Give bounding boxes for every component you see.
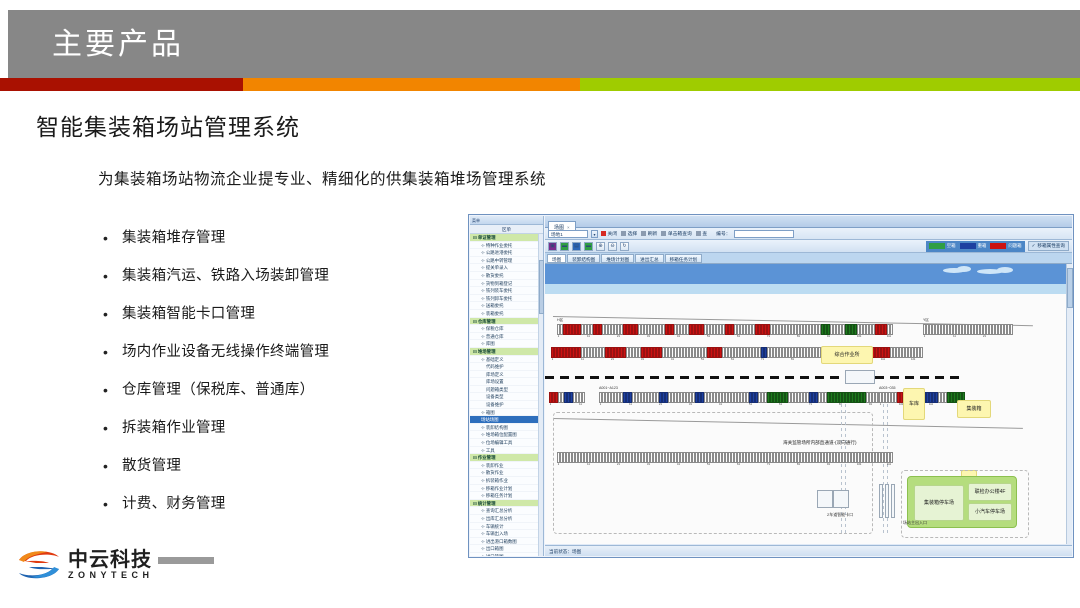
logo-name-en: ZONYTECH: [68, 570, 154, 581]
feature-list-item-label: 仓库管理（保税库、普通库）: [122, 380, 314, 400]
label-smart-gate: 2车道智能卡口: [827, 512, 853, 518]
zoom-out-icon[interactable]: ⊖: [608, 242, 617, 251]
bullet-marker: •: [96, 342, 122, 362]
yard-tick: [890, 463, 893, 467]
tree-node[interactable]: ⊹ 送箱委托: [470, 302, 538, 310]
feature-list-item: •集装箱智能卡口管理: [96, 304, 466, 342]
tree-node[interactable]: ⊹ 移箱作业计划: [470, 485, 538, 493]
tree-node[interactable]: 库场定义: [470, 371, 538, 379]
app-status-bar: 当前状态：场图: [545, 545, 1072, 556]
plot-outline-main: [553, 412, 873, 534]
slide: 主要产品 智能集装箱场站管理系统 为集装箱场站物流企业提专业、精细化的供集装箱堆…: [0, 0, 1080, 608]
yard-tick: [1010, 335, 1013, 339]
yard-row-y-ticks: 11121: [923, 335, 1013, 339]
toolbar-item-label: 查: [702, 230, 707, 237]
zoom-glyph[interactable]: ▣: [548, 242, 557, 251]
logo-divider-bar: [158, 557, 214, 564]
tree-node[interactable]: ⊹ 提关单录入: [470, 264, 538, 272]
toolbar-item[interactable]: 查: [696, 230, 707, 237]
feature-list-item-label: 散货管理: [122, 456, 181, 476]
feature-list-item: •集装箱堆存管理: [96, 228, 466, 266]
toolbar-item[interactable]: 单击箱查询: [661, 230, 692, 237]
building-zonghe[interactable]: 综合作业所: [821, 346, 873, 364]
row-label-h: H区: [557, 318, 563, 323]
feature-list-item-label: 集装箱汽运、铁路入场装卸管理: [122, 266, 329, 286]
app-toolbar-tools[interactable]: ▣▬▤▬⊕⊖↻ 空箱重箱问题箱 ✓ 移箱属性查询: [545, 240, 1072, 253]
row-label-a003: A003~035: [879, 386, 896, 390]
logo-swoosh-icon: [16, 548, 62, 582]
refresh-icon[interactable]: ↻: [620, 242, 629, 251]
tree-node[interactable]: ⊹ 箱图: [470, 409, 538, 417]
chevron-down-icon[interactable]: ▾: [591, 230, 598, 238]
gate-lane: [817, 490, 833, 508]
bullet-marker: •: [96, 266, 122, 286]
entrance-lane: [891, 484, 895, 518]
gate-lane: [833, 490, 849, 508]
yard-slot[interactable]: [1010, 324, 1013, 335]
tree-caption: 区单: [470, 225, 543, 234]
tree-node[interactable]: ⊹ 工具: [470, 447, 538, 455]
legend-entry: 问题箱: [990, 243, 1021, 249]
app-main-area: 场图× 场地1 ▾ 关闭选择刷新单击箱查询查 编号： ▣▬▤▬⊕⊖↻ 空箱重箱问…: [545, 216, 1072, 556]
tree-node[interactable]: ⊹ 拆装箱作业: [470, 477, 538, 485]
cloud-icon: [957, 266, 971, 272]
tree-scrollbar[interactable]: [538, 234, 543, 556]
feature-list-item-label: 拆装箱作业管理: [122, 418, 226, 438]
cloud-icon: [997, 267, 1013, 273]
zoom-in-icon[interactable]: ⊕: [596, 242, 605, 251]
yard-row-h-ticks: 1112131415161718191101111: [557, 335, 893, 339]
toolbar-item-label: 关闭: [608, 230, 618, 237]
tree-node[interactable]: ⊹ 普通仓库: [470, 333, 538, 341]
legend-swatch: [990, 243, 1006, 249]
bullet-marker: •: [96, 456, 122, 476]
app-view-switcher[interactable]: 场图装卸结构图堆场计划图进出汇总移箱任务计划: [545, 253, 1072, 264]
bullet-marker: •: [96, 380, 122, 400]
tree-node[interactable]: ⊹ 装卸作业: [470, 462, 538, 470]
view-switch-button[interactable]: 装卸结构图: [567, 254, 600, 263]
yard-row-b-ticks: 1112131415161718191101111: [557, 463, 893, 467]
move-box-query-checkbox[interactable]: ✓ 移箱属性查询: [1028, 241, 1069, 251]
tree-node[interactable]: ⊹ 装箱委托: [470, 310, 538, 318]
tree-node[interactable]: ⊟ 统计管理: [470, 500, 538, 508]
tree-node[interactable]: 库场设置: [470, 378, 538, 386]
tree-node[interactable]: ⊹ 出库汇总分析: [470, 515, 538, 523]
yard-row-y[interactable]: [923, 324, 1013, 335]
bullet-marker: •: [96, 304, 122, 324]
feature-list-item: •计费、财务管理: [96, 494, 466, 532]
tree-node[interactable]: ⊹ 公路中转管理: [470, 257, 538, 265]
section-subheading: 为集装箱场站物流企业提专业、精细化的供集装箱堆场管理系统: [98, 167, 546, 189]
toolbar-item[interactable]: 关闭: [601, 230, 617, 237]
tree-node[interactable]: ⊹ 堆场箱位配置图: [470, 431, 538, 439]
tree-node[interactable]: ⊹ 装卸结构图: [470, 424, 538, 432]
building-office-4f[interactable]: 联检办公楼4F: [968, 483, 1012, 501]
tree-node[interactable]: 问题箱类型: [470, 386, 538, 394]
tree-node[interactable]: ⊟ 作业管理: [470, 454, 538, 462]
code-field-label: 编号：: [716, 230, 730, 237]
tree-node[interactable]: 场站场图: [470, 416, 538, 424]
legend-entry: 空箱: [929, 243, 956, 249]
view-switch-button[interactable]: 堆场计划图: [601, 254, 634, 263]
company-logo: 中云科技 ZONYTECH: [16, 548, 154, 582]
main-road-dashes: [545, 376, 965, 379]
logo-wordmark: 中云科技 ZONYTECH: [68, 550, 154, 581]
feature-list-item: •仓库管理（保税库、普通库）: [96, 380, 466, 418]
building-cheku[interactable]: 车库: [903, 388, 925, 420]
yard-slot[interactable]: [890, 324, 893, 335]
tree-node[interactable]: ⊹ 进口箱图: [470, 553, 538, 556]
yard-row-b[interactable]: [557, 452, 893, 463]
tree-node[interactable]: ⊹ 散货作业: [470, 469, 538, 477]
tree-node[interactable]: 代码维护: [470, 363, 538, 371]
feature-list-item-label: 计费、财务管理: [122, 494, 226, 514]
yard-slot[interactable]: [582, 392, 585, 403]
legend-label: 空箱: [947, 243, 956, 249]
bullet-marker: •: [96, 494, 122, 514]
legend-label: 问题箱: [1008, 243, 1021, 249]
grey-square-icon: [621, 231, 626, 236]
tree-node[interactable]: ⊹ 铁列卸车委托: [470, 295, 538, 303]
legend-label: 重箱: [978, 243, 987, 249]
tree-node[interactable]: ⊹ 库图: [470, 340, 538, 348]
building-car-parking[interactable]: 小汽车停车场: [968, 503, 1012, 521]
tree-node[interactable]: ⊹ 公路进港委托: [470, 249, 538, 257]
yard-slot[interactable]: [890, 452, 893, 463]
tree-node[interactable]: ⊹ 散货委托: [470, 272, 538, 280]
feature-list-item: •集装箱汽运、铁路入场装卸管理: [96, 266, 466, 304]
tree-header: 菜单: [470, 216, 543, 225]
grey-square-icon: [696, 231, 701, 236]
entrance-lane: [879, 484, 883, 518]
feature-list-item-label: 集装箱堆存管理: [122, 228, 226, 248]
feature-list-item: •散货管理: [96, 456, 466, 494]
yard-select-value[interactable]: 场地1: [548, 230, 588, 238]
tree-node[interactable]: ⊟ 堆场管理: [470, 348, 538, 356]
canvas-scrollbar[interactable]: [1066, 264, 1072, 544]
tree-node[interactable]: ⊹ 车辆出入场: [470, 530, 538, 538]
tree-node[interactable]: ⊹ 特种作业委托: [470, 242, 538, 250]
row-label-y: Y区: [923, 318, 929, 323]
yard-ground: H区 1112131415161718191101111 Y区 11121 11…: [545, 294, 1066, 544]
yard-row-3-ticks: 111: [549, 403, 585, 407]
product-screenshot: 菜单 区单 ⊟ 单证管理⊹ 特种作业委托⊹ 公路进港委托⊹ 公路中转管理⊹ 提关…: [468, 214, 1074, 558]
app-menu-tree[interactable]: 菜单 区单 ⊟ 单证管理⊹ 特种作业委托⊹ 公路进港委托⊹ 公路中转管理⊹ 提关…: [470, 216, 544, 556]
yard-map-canvas[interactable]: H区 1112131415161718191101111 Y区 11121 11…: [545, 264, 1066, 544]
label-main-entrance: 场站主出入口: [903, 520, 927, 526]
sky-band-light: [545, 284, 1066, 294]
feature-list-item-label: 场内作业设备无线操作终端管理: [122, 342, 329, 362]
tree-node[interactable]: ⊹ 车辆统计: [470, 523, 538, 531]
section-heading: 智能集装箱场站管理系统: [36, 108, 300, 142]
legend: 空箱重箱问题箱: [926, 241, 1025, 252]
sky-band: [545, 264, 1066, 284]
page-title: 主要产品: [52, 22, 472, 68]
accent-segment-orange: [243, 78, 580, 91]
yard-row-h[interactable]: [557, 324, 893, 335]
toolbar-item-label: 单击箱查询: [668, 230, 692, 237]
tree-node[interactable]: ⊟ 仓库管理: [470, 318, 538, 326]
checkbox-label: 移箱属性查询: [1037, 243, 1065, 249]
tree-node[interactable]: ⊹ 进出港口箱数图: [470, 538, 538, 546]
yard-tick: [582, 403, 585, 407]
legend-swatch: [929, 243, 945, 249]
legend-entry: 重箱: [960, 243, 987, 249]
app-tab-strip[interactable]: 场图×: [545, 216, 1072, 228]
block-glyph[interactable]: ▬: [584, 242, 593, 251]
view-switch-button[interactable]: 移箱任务计划: [665, 254, 703, 263]
vertical-road: [883, 404, 884, 534]
tree-node[interactable]: 设备类型: [470, 393, 538, 401]
bullet-marker: •: [96, 418, 122, 438]
tree-node[interactable]: ⊹ 位场编辑工具: [470, 439, 538, 447]
legend-swatch: [960, 243, 976, 249]
checkmark-icon: ✓: [1032, 243, 1036, 249]
code-field-input[interactable]: [734, 230, 794, 238]
save-glyph[interactable]: ▤: [572, 242, 581, 251]
tree-node[interactable]: ⊹ 移箱任务计划: [470, 492, 538, 500]
building-jizhuangxiang[interactable]: 集装箱: [957, 400, 991, 418]
toolbar-item-label: 选择: [628, 230, 638, 237]
bar-glyph[interactable]: ▬: [560, 242, 569, 251]
grey-square-icon: [641, 231, 646, 236]
feature-list-item: •场内作业设备无线操作终端管理: [96, 342, 466, 380]
feature-list-item: •拆装箱作业管理: [96, 418, 466, 456]
tree-node-list[interactable]: ⊟ 单证管理⊹ 特种作业委托⊹ 公路进港委托⊹ 公路中转管理⊹ 提关单录入⊹ 散…: [470, 234, 538, 556]
tree-node[interactable]: ⊟ 单证管理: [470, 234, 538, 242]
yard-tick: [890, 335, 893, 339]
label-customs-corridor: 海关监管场所内部直通道-(双向通行): [783, 440, 857, 446]
toolbar-item[interactable]: 刷新: [641, 230, 657, 237]
bullet-marker: •: [96, 228, 122, 248]
yard-tick: [920, 358, 923, 362]
tree-node[interactable]: ⊹ 铁列装车委托: [470, 287, 538, 295]
accent-segment-red: [0, 78, 243, 91]
tree-node[interactable]: ⊹ 货物到箱登记: [470, 280, 538, 288]
entrance-lane: [885, 484, 889, 518]
yard-slot[interactable]: [920, 347, 923, 358]
grey-square-icon: [661, 231, 666, 236]
logo-name-cn: 中云科技: [68, 550, 154, 570]
accent-bar: [0, 78, 1080, 91]
tree-node[interactable]: ⊹ 出口箱图: [470, 545, 538, 553]
tree-node[interactable]: ⊹ 基础定义: [470, 356, 538, 364]
red-square-icon: [601, 231, 606, 236]
row-label-a001: A001~A123: [599, 386, 618, 390]
toolbar-item[interactable]: 选择: [621, 230, 637, 237]
view-switch-button[interactable]: 场图: [547, 254, 566, 263]
accent-segment-green: [580, 78, 1080, 91]
tree-node[interactable]: 设备维护: [470, 401, 538, 409]
building-container-parking[interactable]: 集装箱停车场: [914, 485, 964, 521]
tree-node[interactable]: ⊹ 保税仓库: [470, 325, 538, 333]
tree-scrollbar-thumb[interactable]: [539, 260, 544, 314]
view-switch-button[interactable]: 进出汇总: [635, 254, 663, 263]
toolbar-item-label: 刷新: [648, 230, 658, 237]
tool-button-group[interactable]: ▣▬▤▬⊕⊖↻: [548, 242, 629, 251]
app-toolbar-filters[interactable]: 场地1 ▾ 关闭选择刷新单击箱查询查 编号：: [545, 228, 1072, 240]
feature-list-item-label: 集装箱智能卡口管理: [122, 304, 255, 324]
road-gate-box: [845, 370, 875, 384]
feature-list: •集装箱堆存管理•集装箱汽运、铁路入场装卸管理•集装箱智能卡口管理•场内作业设备…: [96, 228, 466, 532]
tree-node[interactable]: ⊹ 查询汇总分析: [470, 507, 538, 515]
toolbar-action-group[interactable]: 关闭选择刷新单击箱查询查: [601, 230, 707, 237]
yard-row-3[interactable]: [549, 392, 585, 403]
canvas-scrollbar-thumb[interactable]: [1067, 268, 1073, 308]
